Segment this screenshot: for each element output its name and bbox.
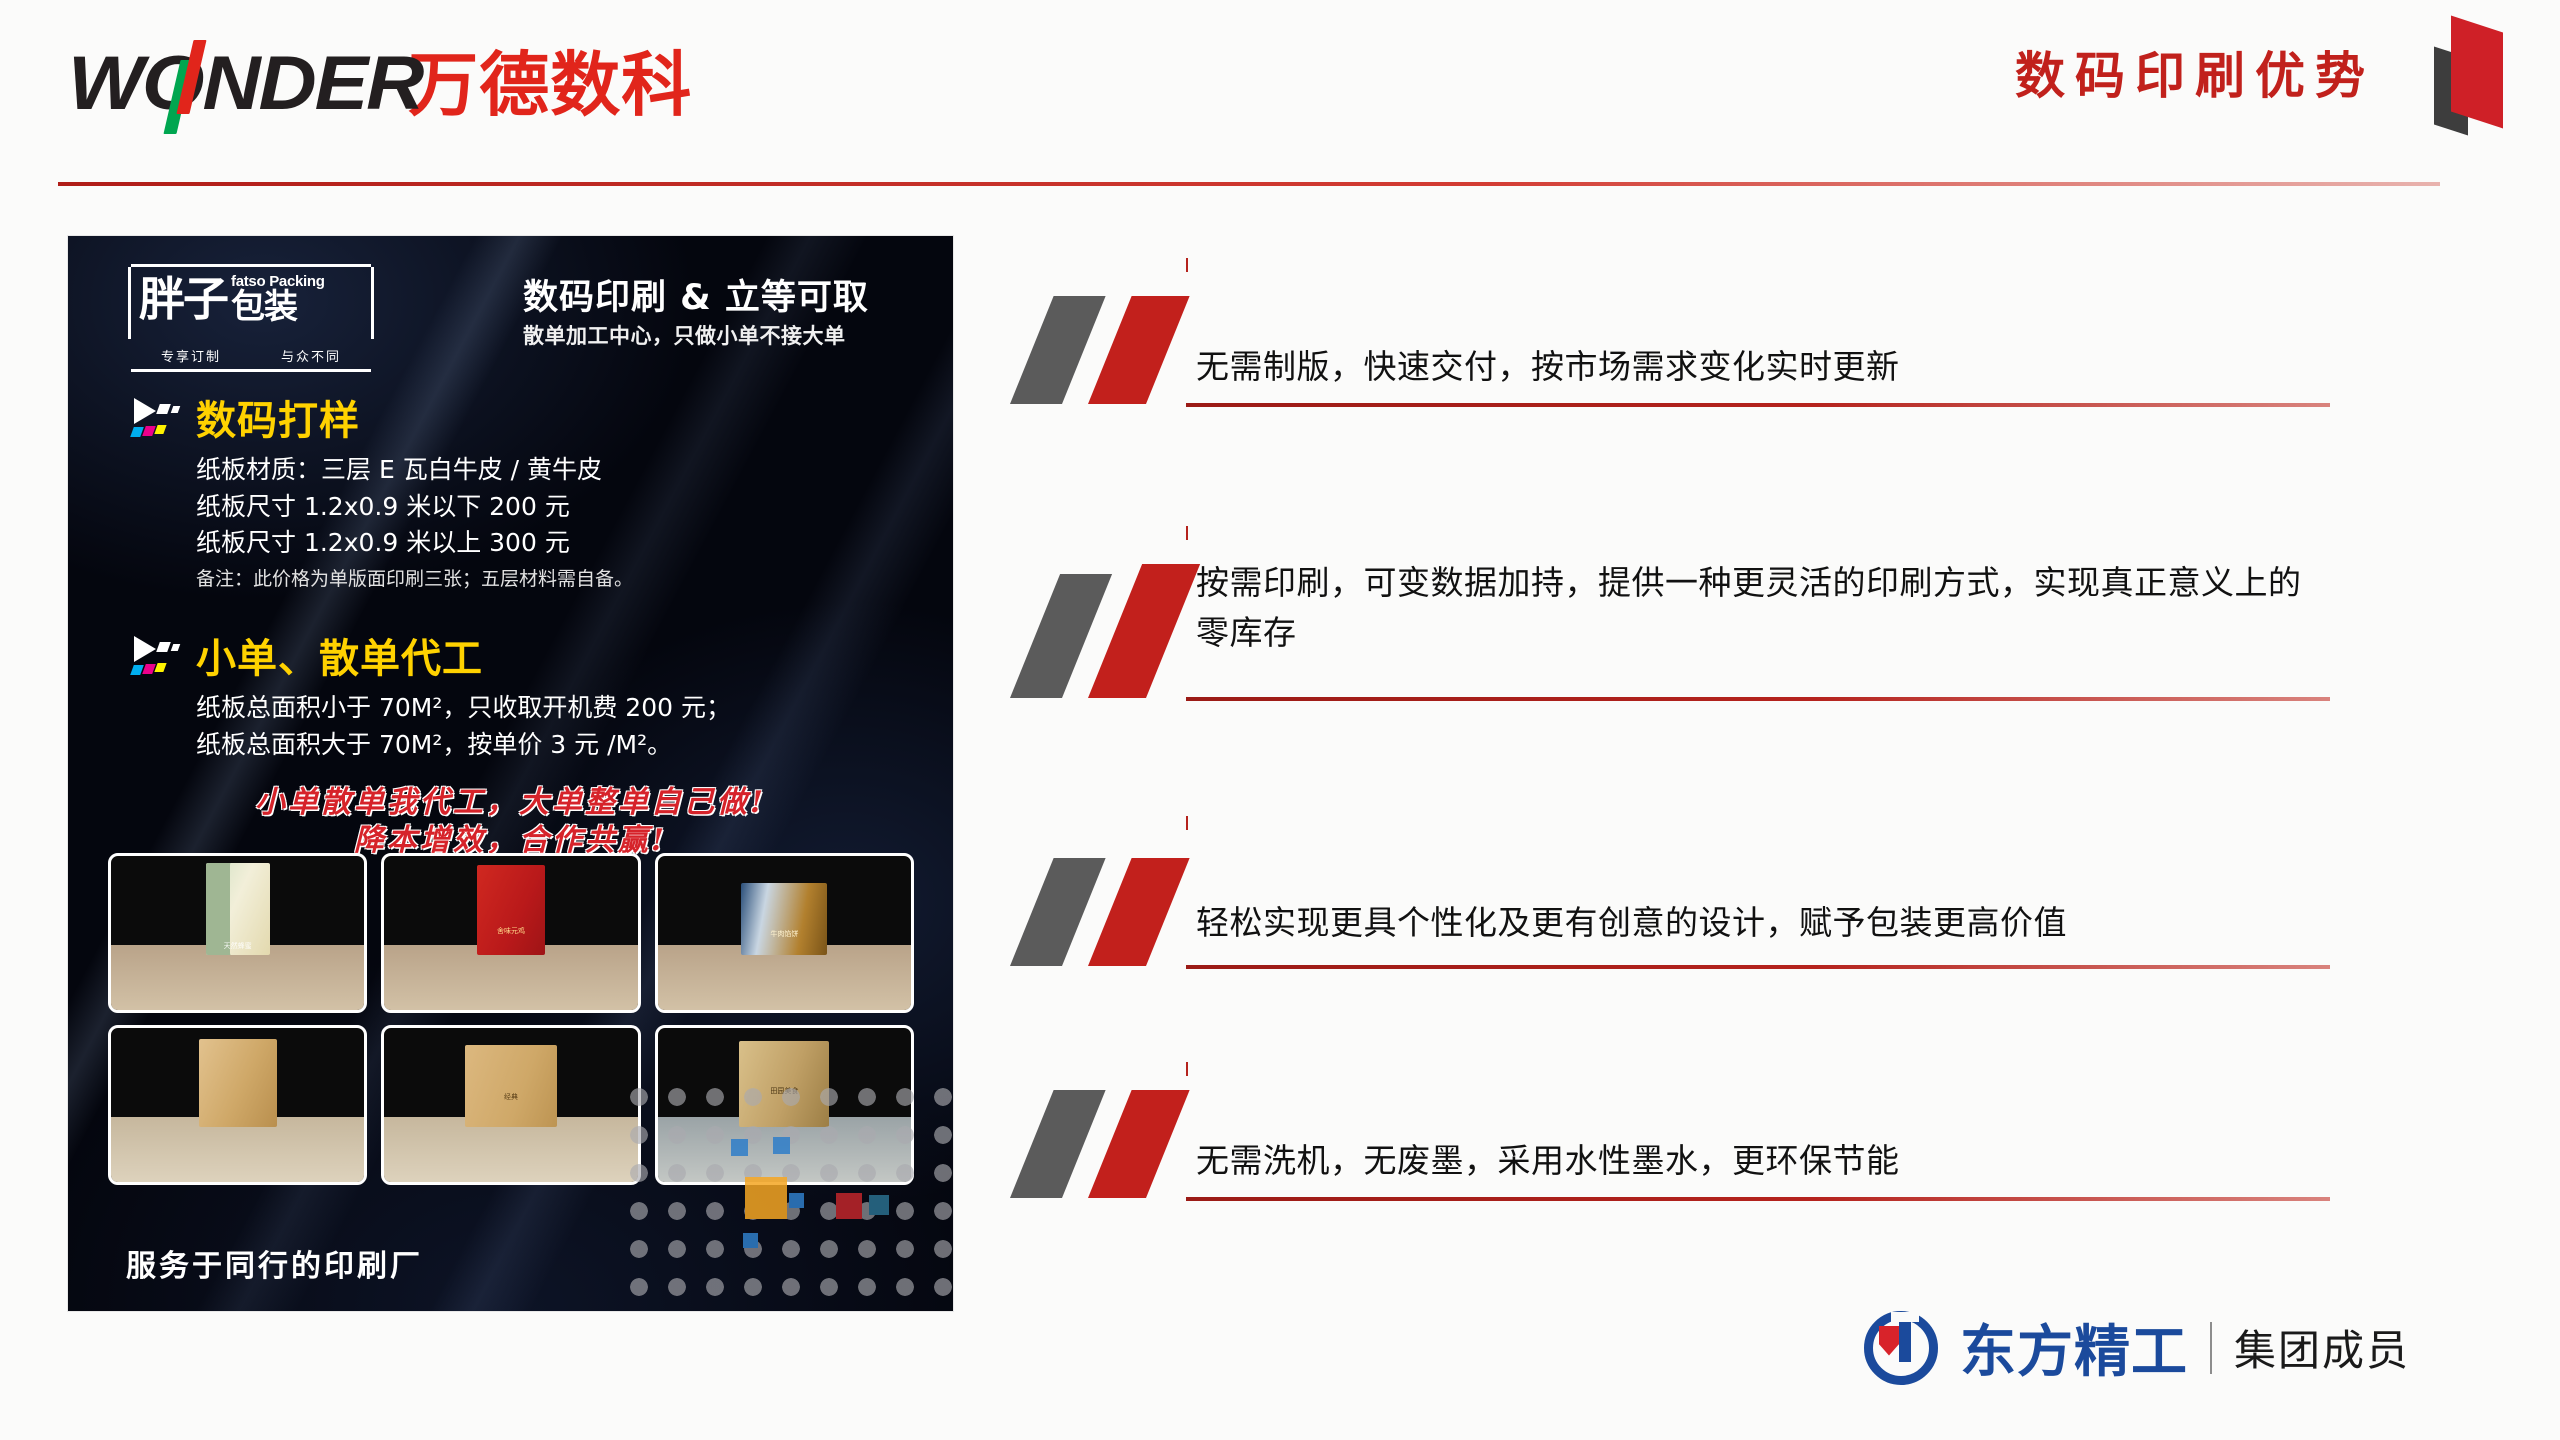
dot-square-blue: [773, 1137, 790, 1154]
section-1-line-2: 纸板尺寸 1.2x0.9 米以下 200 元: [196, 489, 633, 526]
product-photo: 舍味元鸡: [381, 853, 640, 1013]
section-1-line-1: 纸板材质：三层 E 瓦白牛皮 / 黄牛皮: [196, 452, 633, 489]
bullet-4-underline: [1186, 1197, 2330, 1201]
corner-red-shape: [2451, 16, 2503, 129]
section-1-note: 备注：此价格为单版面印刷三张；五层材料需自备。: [196, 564, 633, 591]
chevron-arrow-icon: [130, 634, 182, 676]
bullet-tick-mark: [1186, 816, 1188, 830]
bullet-1: 无需制版，快速交付，按市场需求变化实时更新: [1010, 296, 2330, 404]
logo-frame-right: [371, 267, 374, 339]
bullet-tick-mark: [1186, 526, 1188, 540]
bullet-1-text: 无需制版，快速交付，按市场需求变化实时更新: [1196, 296, 2330, 392]
product-photo: [108, 1025, 367, 1185]
page-title: 数码印刷优势: [2015, 36, 2375, 108]
section-2-line-2: 纸板总面积大于 70M²，按单价 3 元 /M²。: [196, 727, 731, 764]
footer-divider: [2210, 1322, 2212, 1374]
poster-footer-caption: 服务于同行的印刷厂: [126, 1241, 423, 1285]
brand-logo-latin: WONDER: [68, 48, 422, 120]
promo-poster-image: 胖子 fatso Packing 包装 专享订制 与众不同 数码印刷 & 立等可…: [68, 236, 953, 1311]
bullet-tick-mark: [1186, 1062, 1188, 1076]
dot-square-orange: [745, 1177, 787, 1219]
bullet-marker-icon: [1010, 296, 1185, 404]
bullet-tick-mark: [1186, 258, 1188, 272]
bullet-marker-icon: [1010, 858, 1185, 966]
dot-square-teal: [869, 1195, 889, 1215]
product-photo-caption: 经典: [384, 1092, 637, 1102]
section-2-line-1: 纸板总面积小于 70M²，只收取开机费 200 元；: [196, 690, 731, 727]
dot-square-blue: [789, 1193, 804, 1208]
footer-membership-label: 集团成员: [2234, 1317, 2410, 1378]
dot-square-blue: [731, 1139, 748, 1156]
header-divider-rule: [58, 182, 2440, 186]
bullet-marker-icon: [1010, 548, 1185, 698]
slide-canvas: WONDER 万德数科 数码印刷优势 胖子 fatso Packing 包装 专…: [0, 0, 2560, 1440]
logo-frame-left: [128, 267, 131, 339]
bullet-4: 无需洗机，无废墨，采用水性墨水，更环保节能: [1010, 1090, 2330, 1198]
brand-logo-chinese: 万德数科: [408, 50, 692, 120]
fatso-logo-cn-main: 胖子: [139, 276, 227, 322]
bullet-3-underline: [1186, 965, 2330, 969]
fatso-logo-tag-left: 专享订制: [161, 346, 221, 365]
bullet-marker-icon: [1010, 1090, 1185, 1198]
group-member-footer-logo: 东方精工 集团成员: [1864, 1307, 2410, 1388]
corner-decoration-icon: [2434, 6, 2538, 136]
bullet-3: 轻松实现更具个性化及更有创意的设计，赋予包装更高价值: [1010, 858, 2330, 966]
dongfang-jinggong-emblem-icon: [1864, 1311, 1938, 1385]
dot-square-blue: [743, 1233, 758, 1248]
decorative-dot-pattern: [623, 1081, 953, 1311]
product-photo: 天然蜂蜜: [108, 853, 367, 1013]
fatso-logo-cn-secondary: 包装: [231, 290, 297, 326]
dot-square-red: [836, 1193, 862, 1219]
product-photo-caption: 牛肉馅饼: [658, 929, 911, 939]
fatso-logo-tag-right: 与众不同: [281, 346, 341, 365]
section-1-line-3: 纸板尺寸 1.2x0.9 米以上 300 元: [196, 525, 633, 562]
slogan-line-1: 小单散单我代工，大单整单自己做!: [68, 784, 953, 822]
bullet-2-text: 按需印刷，可变数据加持，提供一种更灵活的印刷方式，实现真正意义上的零库存: [1196, 548, 2330, 658]
poster-subheadline: 散单加工中心，只做小单不接大单: [523, 320, 846, 350]
bullet-4-text: 无需洗机，无废墨，采用水性墨水，更环保节能: [1196, 1090, 2330, 1186]
poster-slogan: 小单散单我代工，大单整单自己做! 降本增效，合作共赢!: [68, 784, 953, 859]
poster-headline: 数码印刷 & 立等可取: [523, 269, 869, 320]
section-2-title: 小单、散单代工: [196, 626, 483, 684]
chevron-arrow-icon: [130, 396, 182, 438]
fatso-packing-logo: 胖子 fatso Packing 包装 专享订制 与众不同: [131, 264, 371, 372]
section-1-title: 数码打样: [196, 388, 360, 446]
poster-section-digital-proofing: 数码打样 纸板材质：三层 E 瓦白牛皮 / 黄牛皮 纸板尺寸 1.2x0.9 米…: [130, 388, 633, 591]
footer-company-name: 东方精工: [1960, 1307, 2188, 1388]
poster-section-small-order-oem: 小单、散单代工 纸板总面积小于 70M²，只收取开机费 200 元； 纸板总面积…: [130, 626, 731, 763]
bullet-3-text: 轻松实现更具个性化及更有创意的设计，赋予包装更高价值: [1196, 858, 2330, 948]
product-photo-caption: 舍味元鸡: [384, 926, 637, 936]
bullet-1-underline: [1186, 403, 2330, 407]
product-photo: 经典: [381, 1025, 640, 1185]
bullet-2: 按需印刷，可变数据加持，提供一种更灵活的印刷方式，实现真正意义上的零库存: [1010, 548, 2330, 698]
product-photo: 牛肉馅饼: [655, 853, 914, 1013]
bullet-2-underline: [1186, 697, 2330, 701]
brand-logo: WONDER 万德数科: [68, 42, 692, 120]
product-photo-caption: 天然蜂蜜: [111, 941, 364, 951]
